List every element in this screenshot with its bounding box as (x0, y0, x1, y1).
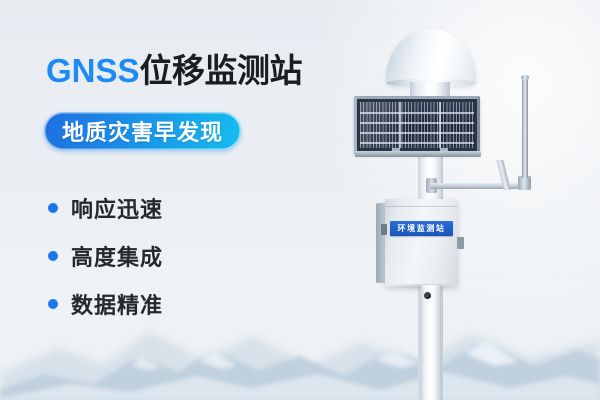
mounting-pole-lower (420, 285, 441, 400)
title-brand: GNSS (46, 52, 140, 89)
enclosure-latch (381, 224, 387, 235)
bullet-dot-icon (48, 299, 58, 309)
feature-list: 响应迅速 高度集成 数据精准 (48, 184, 278, 328)
panel-grid-line (439, 102, 441, 148)
gnss-product-banner: GNSS位移监测站 地质灾害早发现 响应迅速 高度集成 数据精准 (0, 0, 600, 400)
equipment-enclosure (385, 199, 458, 286)
whip-antenna (522, 78, 528, 178)
whip-antenna-cap (521, 75, 529, 80)
list-item: 响应迅速 (48, 184, 278, 232)
tagline-badge-label: 地质灾害早发现 (62, 115, 223, 147)
panel-grid-line (360, 122, 474, 124)
whip-antenna-base (518, 176, 531, 190)
panel-grid-line (360, 142, 474, 144)
name-plate-label: 环境监测站 (398, 225, 446, 233)
panel-grid-line (399, 102, 401, 148)
title-rest: 位移监测站 (140, 52, 303, 89)
enclosure-seam (385, 206, 458, 207)
page-title: GNSS位移监测站 (46, 54, 302, 87)
status-badge: 环境监测站 (390, 221, 453, 236)
panel-rail (355, 151, 482, 157)
monitoring-station-illustration: 环境监测站 (330, 0, 600, 400)
feature-label: 响应迅速 (71, 192, 163, 224)
feature-label: 高度集成 (71, 240, 163, 272)
dome-highlight (442, 52, 449, 57)
solar-panel (354, 96, 480, 160)
tagline-badge: 地质灾害早发现 (44, 112, 241, 150)
bullet-dot-icon (48, 203, 58, 213)
feature-label: 数据精准 (71, 288, 163, 320)
list-item: 数据精准 (48, 280, 278, 328)
bullet-dot-icon (48, 251, 58, 261)
list-item: 高度集成 (48, 232, 278, 280)
panel-grid-line (360, 132, 474, 134)
antenna-support-arm (430, 183, 530, 189)
enclosure-latch (457, 237, 464, 249)
gnss-antenna-dome (386, 29, 476, 85)
pole-bolt (424, 292, 431, 299)
solar-panel-frame (354, 96, 480, 154)
panel-grid-line (360, 112, 474, 114)
